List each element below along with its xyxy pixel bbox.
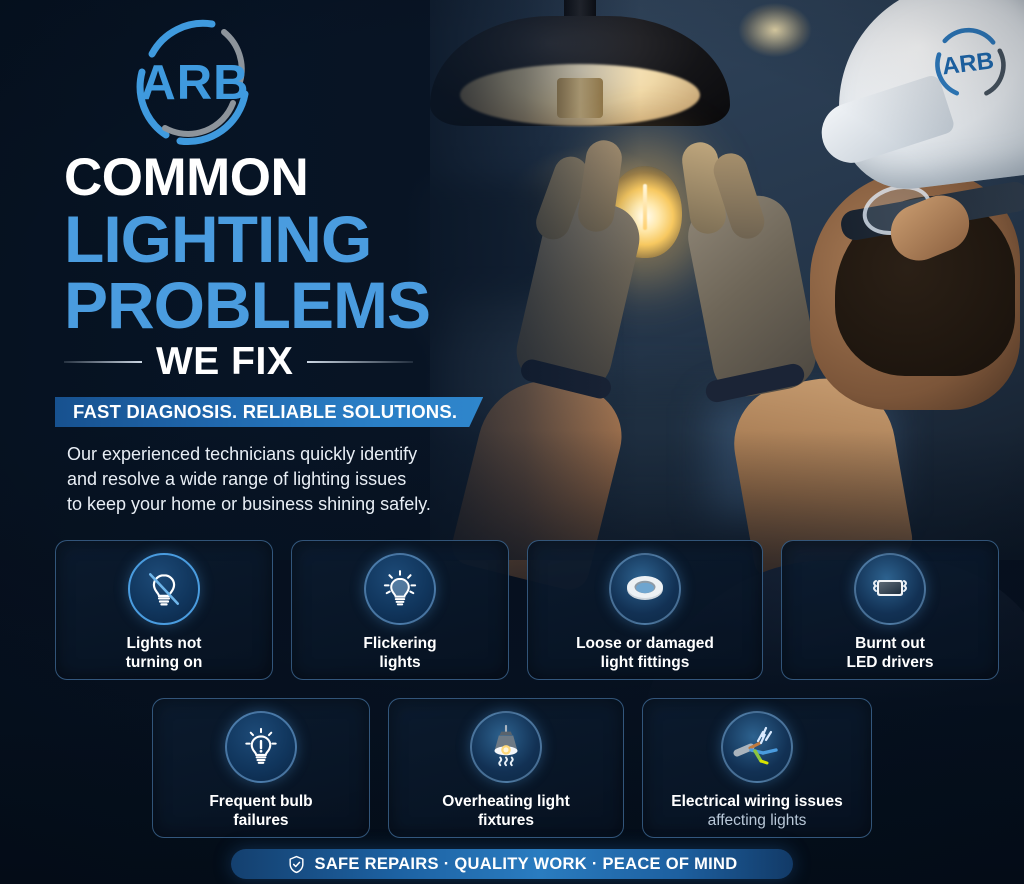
arb-logo-text: ARB bbox=[120, 8, 270, 158]
sparking-wires-icon bbox=[721, 711, 793, 783]
arb-logo: ARB bbox=[120, 8, 270, 158]
tagline-ribbon: FAST DIAGNOSIS. RELIABLE SOLUTIONS. bbox=[55, 397, 483, 427]
problem-card-lights-not-turning-on[interactable]: Lights not turning on bbox=[55, 540, 273, 680]
card-label-line1: Loose or damaged bbox=[576, 634, 714, 653]
card-label-line2: lights bbox=[363, 653, 436, 672]
card-label-line2: turning on bbox=[126, 653, 203, 672]
footer-badge-text: SAFE REPAIRS · QUALITY WORK · PEACE OF M… bbox=[315, 855, 738, 874]
card-label-line1: Overheating light bbox=[442, 792, 569, 811]
we-fix-row: WE FIX bbox=[64, 340, 494, 384]
card-label-line1: Frequent bulb bbox=[209, 792, 312, 811]
led-driver-icon bbox=[854, 553, 926, 625]
problem-card-frequent-bulb-failures[interactable]: Frequent bulb failures bbox=[152, 698, 370, 838]
card-label-line2: affecting lights bbox=[671, 811, 842, 830]
intro-line-2: and resolve a wide range of lighting iss… bbox=[67, 467, 497, 492]
card-label-line2: LED drivers bbox=[846, 653, 933, 672]
headline-line-lighting: LIGHTING bbox=[64, 206, 584, 272]
card-label: Overheating light fixtures bbox=[442, 792, 569, 830]
intro-line-3: to keep your home or business shining sa… bbox=[67, 492, 497, 517]
card-label-line1: Flickering bbox=[363, 634, 436, 653]
card-label: Electrical wiring issues affecting light… bbox=[671, 792, 842, 830]
card-label-line1: Electrical wiring issues bbox=[671, 792, 842, 811]
headline-block: COMMON LIGHTING PROBLEMS bbox=[64, 152, 584, 338]
footer-badge: SAFE REPAIRS · QUALITY WORK · PEACE OF M… bbox=[231, 849, 793, 879]
problem-card-overheating-fixtures[interactable]: Overheating light fixtures bbox=[388, 698, 624, 838]
problem-card-loose-light-fittings[interactable]: Loose or damaged light fittings bbox=[527, 540, 763, 680]
card-label: Burnt out LED drivers bbox=[846, 634, 933, 672]
downlight-fitting-icon bbox=[609, 553, 681, 625]
problem-cards-row-1: Lights not turning on Flickering lig bbox=[55, 540, 999, 680]
problem-cards-row-2: Frequent bulb failures bbox=[152, 698, 872, 838]
card-label-line2: fixtures bbox=[442, 811, 569, 830]
card-label: Frequent bulb failures bbox=[209, 792, 312, 830]
divider-left bbox=[64, 361, 142, 363]
headline-line-problems: PROBLEMS bbox=[64, 272, 584, 338]
bulb-warning-icon bbox=[225, 711, 297, 783]
intro-line-1: Our experienced technicians quickly iden… bbox=[67, 442, 497, 467]
card-label: Loose or damaged light fittings bbox=[576, 634, 714, 672]
card-label: Flickering lights bbox=[363, 634, 436, 672]
card-label-line2: light fittings bbox=[576, 653, 714, 672]
overheating-pendant-icon bbox=[470, 711, 542, 783]
problem-card-electrical-wiring-issues[interactable]: Electrical wiring issues affecting light… bbox=[642, 698, 872, 838]
problem-card-flickering-lights[interactable]: Flickering lights bbox=[291, 540, 509, 680]
problem-card-burnt-out-led-drivers[interactable]: Burnt out LED drivers bbox=[781, 540, 999, 680]
divider-right bbox=[307, 361, 413, 363]
card-label-line2: failures bbox=[209, 811, 312, 830]
shield-check-icon bbox=[287, 855, 306, 874]
headline-line-common: COMMON bbox=[64, 152, 584, 204]
card-label: Lights not turning on bbox=[126, 634, 203, 672]
poster-canvas: ARB ARB COMMON LIGHTING PROBLEMS WE FIX … bbox=[0, 0, 1024, 884]
headline-line-we-fix: WE FIX bbox=[156, 340, 293, 384]
card-label-line1: Burnt out bbox=[846, 634, 933, 653]
bulb-off-icon bbox=[128, 553, 200, 625]
intro-paragraph: Our experienced technicians quickly iden… bbox=[67, 442, 497, 517]
card-label-line1: Lights not bbox=[126, 634, 203, 653]
tagline-text: FAST DIAGNOSIS. RELIABLE SOLUTIONS. bbox=[73, 401, 457, 423]
flickering-bulb-icon bbox=[364, 553, 436, 625]
